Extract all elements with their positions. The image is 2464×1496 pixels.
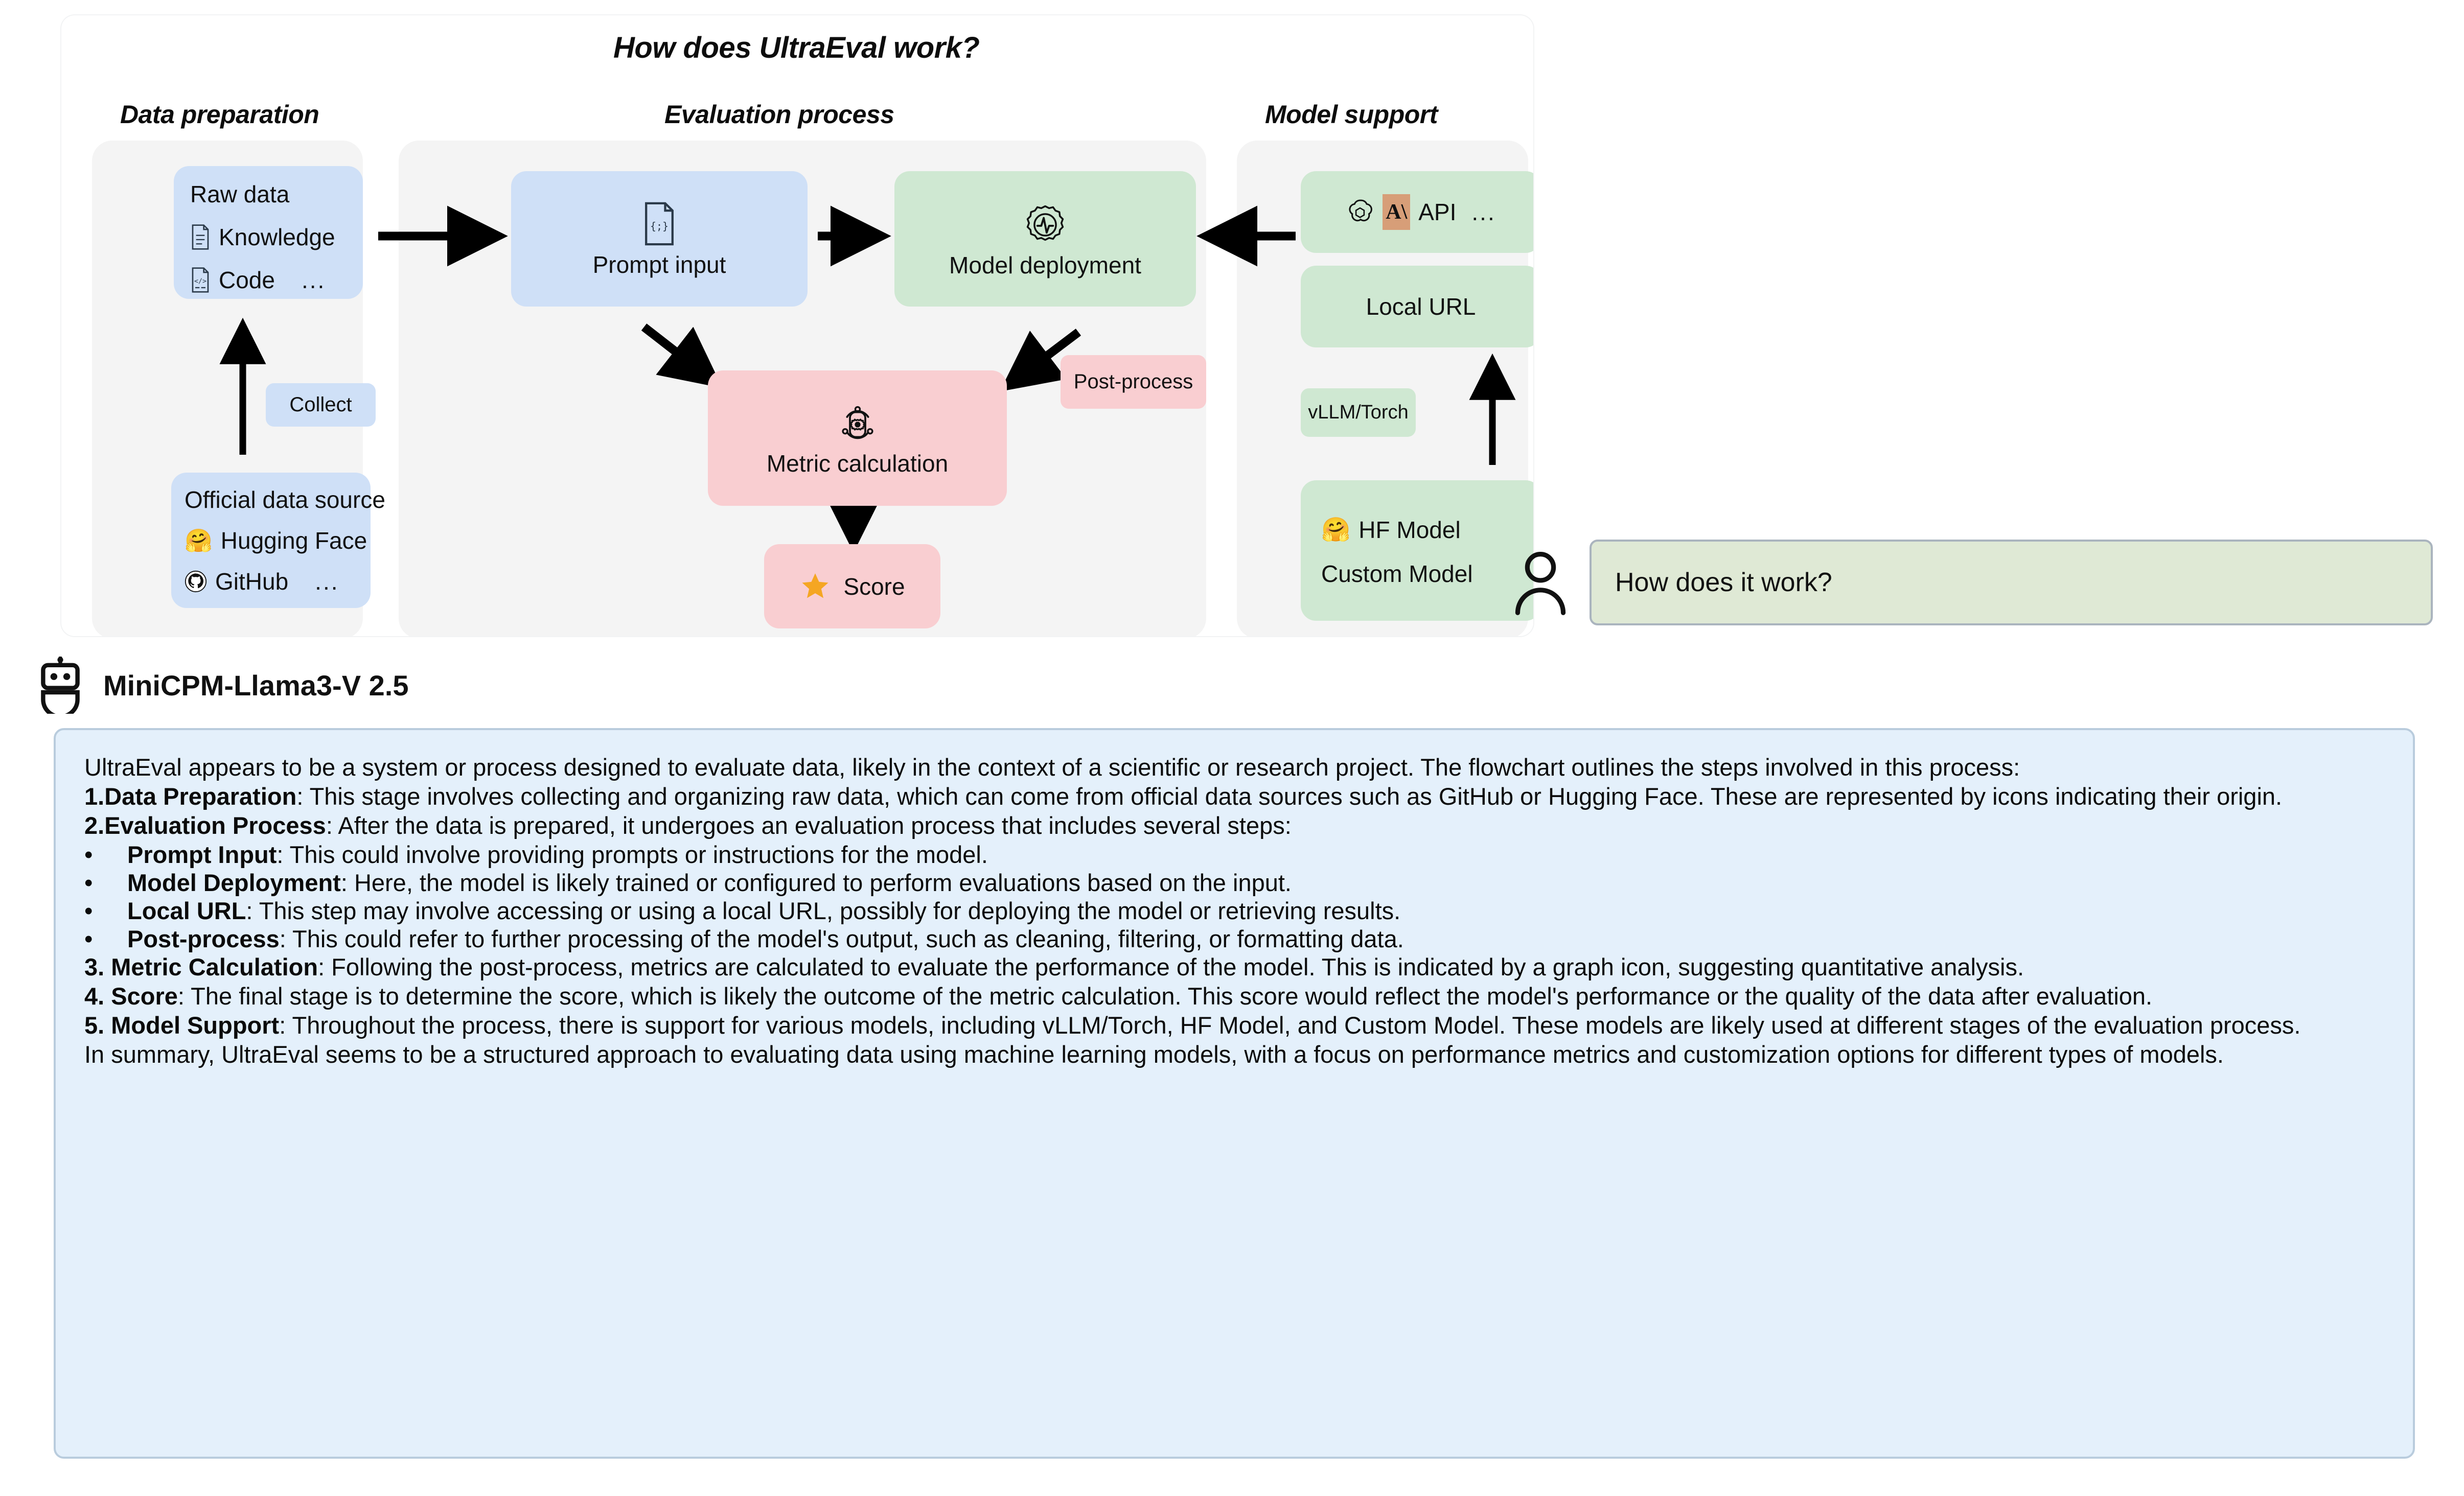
node-local-url[interactable]: Local URL <box>1301 266 1533 347</box>
anthropic-icon: A\ <box>1383 194 1410 230</box>
document-icon <box>190 224 211 250</box>
source-item-hugging-face: 🤗 Hugging Face <box>185 527 371 554</box>
answer-item-4-head: 4. Score <box>84 983 178 1010</box>
user-message-row: How does it work? <box>1513 529 2433 636</box>
answer-item-2-body: : After the data is prepared, it undergo… <box>326 812 1292 839</box>
source-item-hugging-face-label: Hugging Face <box>221 527 367 554</box>
code-file-icon: </> <box>190 267 211 293</box>
flowchart-title: How does UltraEval work? <box>613 31 979 65</box>
node-metric-calculation-label: Metric calculation <box>767 452 948 475</box>
bullet-marker: • <box>84 869 127 897</box>
column-title-evaluation-process: Evaluation process <box>664 100 894 129</box>
official-source-ellipsis: ... <box>315 568 339 595</box>
svg-text:{;}: {;} <box>650 220 669 232</box>
node-score-label: Score <box>843 573 905 600</box>
metric-orbit-icon <box>835 402 881 448</box>
openai-icon <box>1346 198 1374 226</box>
answer-bullet: • Local URL: This step may involve acces… <box>84 897 2384 925</box>
bullet-content: Post-process: This could refer to furthe… <box>127 925 2384 953</box>
raw-data-ellipsis: ... <box>302 266 326 294</box>
user-message-bubble: How does it work? <box>1590 540 2433 625</box>
node-score[interactable]: Score <box>764 544 940 628</box>
raw-data-item-code-label: Code <box>219 266 275 294</box>
json-file-icon: {;} <box>641 202 677 246</box>
answer-item-4: 4. Score: The final stage is to determin… <box>84 983 2384 1011</box>
answer-item-1-body: : This stage involves collecting and org… <box>296 783 2282 810</box>
answer-item-3: 3. Metric Calculation: Following the pos… <box>84 953 2384 981</box>
node-raw-data[interactable]: Raw data Knowledge </> <box>174 166 363 299</box>
node-api[interactable]: A\ API ... <box>1301 171 1533 253</box>
bullet-head: Model Deployment <box>127 869 341 896</box>
bullet-content: Local URL: This step may involve accessi… <box>127 897 2384 925</box>
api-ellipsis: ... <box>1471 198 1495 226</box>
answer-item-1: 1.Data Preparation: This stage involves … <box>84 783 2384 811</box>
node-prompt-input[interactable]: {;} Prompt input <box>511 171 808 307</box>
answer-item-3-body: : Following the post-process, metrics ar… <box>318 953 2024 980</box>
hugging-face-emoji: 🤗 <box>185 527 213 554</box>
bullet-body: : This could refer to further processing… <box>280 925 1404 952</box>
bullet-content: Model Deployment: Here, the model is lik… <box>127 869 2384 897</box>
gear-pulse-icon <box>1022 201 1069 248</box>
answer-item-2: 2.Evaluation Process: After the data is … <box>84 812 2384 840</box>
raw-data-item-knowledge-label: Knowledge <box>219 223 335 251</box>
node-prompt-input-label: Prompt input <box>593 253 726 276</box>
assistant-name: MiniCPM-Llama3-V 2.5 <box>103 669 408 702</box>
answer-item-5-body: : Throughout the process, there is suppo… <box>279 1012 2300 1039</box>
bullet-head: Local URL <box>127 897 246 924</box>
bullet-head: Prompt Input <box>127 841 277 868</box>
svg-text:</>: </> <box>194 278 206 286</box>
app-window: How does UltraEval work? Data preparatio… <box>0 0 2464 1496</box>
node-local-url-label: Local URL <box>1366 295 1476 318</box>
node-custom-model-label: Custom Model <box>1321 562 1473 586</box>
node-hf-model-label: HF Model <box>1358 516 1460 544</box>
node-post-process[interactable]: Post-process <box>1061 355 1206 409</box>
bullet-marker: • <box>84 925 127 953</box>
node-model-deployment-label: Model deployment <box>949 253 1141 277</box>
node-official-data-source-title: Official data source <box>185 486 371 513</box>
node-api-label: API <box>1418 198 1456 226</box>
bullet-body: : This could involve providing prompts o… <box>277 841 988 868</box>
node-model-deployment[interactable]: Model deployment <box>894 171 1196 307</box>
column-title-model-support: Model support <box>1265 100 1438 129</box>
node-collect[interactable]: Collect <box>266 383 376 427</box>
hugging-face-emoji: 🤗 <box>1321 516 1350 544</box>
bullet-head: Post-process <box>127 925 280 952</box>
bullet-marker: • <box>84 897 127 925</box>
user-avatar-icon <box>1513 549 1568 616</box>
raw-data-item-code: </> Code ... <box>190 266 363 294</box>
answer-bullet: • Prompt Input: This could involve provi… <box>84 841 2384 869</box>
answer-bullet: • Post-process: This could refer to furt… <box>84 925 2384 953</box>
bullet-marker: • <box>84 841 127 869</box>
node-metric-calculation[interactable]: Metric calculation <box>708 370 1007 506</box>
raw-data-item-knowledge: Knowledge <box>190 223 363 251</box>
answer-item-3-head: 3. Metric Calculation <box>84 953 318 980</box>
source-item-github-label: GitHub <box>215 568 288 595</box>
node-raw-data-title: Raw data <box>190 180 363 208</box>
answer-intro: UltraEval appears to be a system or proc… <box>84 754 2384 782</box>
bullet-content: Prompt Input: This could involve providi… <box>127 841 2384 869</box>
node-model-list[interactable]: 🤗 HF Model Custom Model <box>1301 480 1533 621</box>
answer-item-5: 5. Model Support: Throughout the process… <box>84 1012 2384 1040</box>
assistant-response-bubble: UltraEval appears to be a system or proc… <box>54 728 2415 1459</box>
github-icon <box>185 570 207 593</box>
answer-summary: In summary, UltraEval seems to be a stru… <box>84 1041 2384 1069</box>
answer-item-4-body: : The final stage is to determine the sc… <box>178 983 2152 1010</box>
answer-bullet: • Model Deployment: Here, the model is l… <box>84 869 2384 897</box>
flowchart-image: How does UltraEval work? Data preparatio… <box>61 15 1533 636</box>
node-official-data-source[interactable]: Official data source 🤗 Hugging Face GitH… <box>171 473 371 608</box>
source-item-github: GitHub ... <box>185 568 371 595</box>
bullet-body: : Here, the model is likely trained or c… <box>341 869 1292 896</box>
assistant-header: MiniCPM-Llama3-V 2.5 <box>36 657 408 714</box>
node-hf-model: 🤗 HF Model <box>1321 516 1461 544</box>
star-icon <box>799 571 831 602</box>
node-vllm-torch[interactable]: vLLM/Torch <box>1301 388 1416 437</box>
robot-icon <box>36 657 85 714</box>
answer-item-1-head: 1.Data Preparation <box>84 783 296 810</box>
answer-item-5-head: 5. Model Support <box>84 1012 279 1039</box>
answer-item-2-head: 2.Evaluation Process <box>84 812 326 839</box>
column-title-data-preparation: Data preparation <box>120 100 319 129</box>
bullet-body: : This step may involve accessing or usi… <box>246 897 1400 924</box>
